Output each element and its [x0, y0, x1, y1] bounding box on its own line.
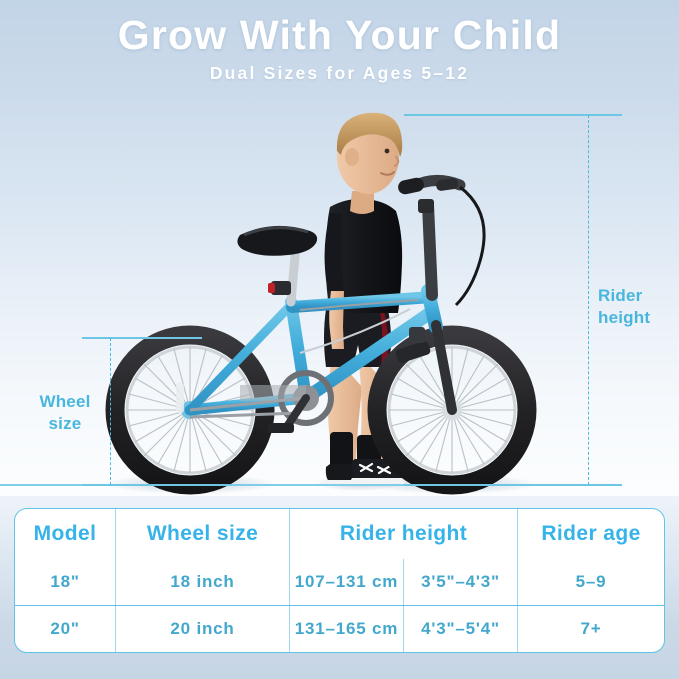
rider-height-top-tick	[404, 114, 622, 116]
wheel-size-top-tick	[82, 337, 202, 339]
rider-height-annotation-line1: Rider	[598, 286, 642, 305]
cell-height-cm: 131–165 cm	[290, 606, 404, 653]
rear-reflector	[176, 383, 184, 413]
table-row: 20" 20 inch 131–165 cm 4'3"–5'4" 7+	[15, 606, 664, 653]
spec-table-body: 18" 18 inch 107–131 cm 3'5"–4'3" 5–9 20"…	[15, 559, 664, 652]
wheel-size-dashed-line	[110, 338, 111, 485]
rider-sleeve	[325, 213, 344, 291]
seat-clamp-lever	[268, 283, 275, 293]
bicycle	[115, 176, 527, 485]
wheel-size-annotation-line2: size	[49, 414, 82, 433]
cell-model: 18"	[15, 559, 116, 606]
rider-eye	[385, 149, 390, 154]
wheel-size-bottom-tick	[82, 484, 232, 486]
rider-height-bottom-tick	[404, 484, 622, 486]
bicycle-and-rider-illustration	[0, 95, 679, 495]
table-header-row: Model Wheel size Rider height Rider age	[15, 509, 664, 559]
cell-wheel-size: 20 inch	[116, 606, 290, 653]
rider-height-annotation-line2: height	[598, 308, 650, 327]
header-rider-height: Rider height	[290, 509, 518, 559]
rider-height-dashed-line	[588, 115, 589, 485]
seat-tube	[291, 302, 306, 398]
cell-height-cm: 107–131 cm	[290, 559, 404, 606]
spec-table: Model Wheel size Rider height Rider age …	[15, 509, 664, 652]
table-row: 18" 18 inch 107–131 cm 3'5"–4'3" 5–9	[15, 559, 664, 606]
rider-neck	[350, 191, 374, 214]
infographic-root: Grow With Your Child Dual Sizes for Ages…	[0, 0, 679, 679]
page-title: Grow With Your Child	[0, 0, 679, 57]
handlebar-assembly	[397, 176, 484, 305]
wheel-size-annotation-line1: Wheel	[39, 392, 90, 411]
header-model: Model	[15, 509, 116, 559]
header-rider-age: Rider age	[518, 509, 665, 559]
pedal	[268, 423, 294, 433]
header-wheel-size: Wheel size	[116, 509, 290, 559]
rider-height-annotation: Rider height	[598, 285, 678, 329]
brake-mount	[409, 327, 425, 343]
header: Grow With Your Child Dual Sizes for Ages…	[0, 0, 679, 84]
chain-guard	[240, 385, 306, 401]
saddle-assembly	[237, 226, 317, 302]
cell-height-ft: 4'3"–5'4"	[404, 606, 518, 653]
spec-table-head: Model Wheel size Rider height Rider age	[15, 509, 664, 559]
page-subtitle: Dual Sizes for Ages 5–12	[0, 57, 679, 84]
top-tube	[292, 297, 432, 307]
cell-height-ft: 3'5"–4'3"	[404, 559, 518, 606]
stem	[418, 199, 434, 213]
spec-table-container: Model Wheel size Rider height Rider age …	[14, 508, 665, 653]
brake-cable-front	[456, 187, 484, 305]
cell-rider-age: 7+	[518, 606, 665, 653]
wheel-size-annotation: Wheel size	[30, 391, 100, 435]
cell-wheel-size: 18 inch	[116, 559, 290, 606]
handlebar-grip	[397, 176, 425, 195]
cell-model: 20"	[15, 606, 116, 653]
rider-ear	[345, 148, 359, 166]
cell-rider-age: 5–9	[518, 559, 665, 606]
fork-steerer	[428, 205, 432, 295]
